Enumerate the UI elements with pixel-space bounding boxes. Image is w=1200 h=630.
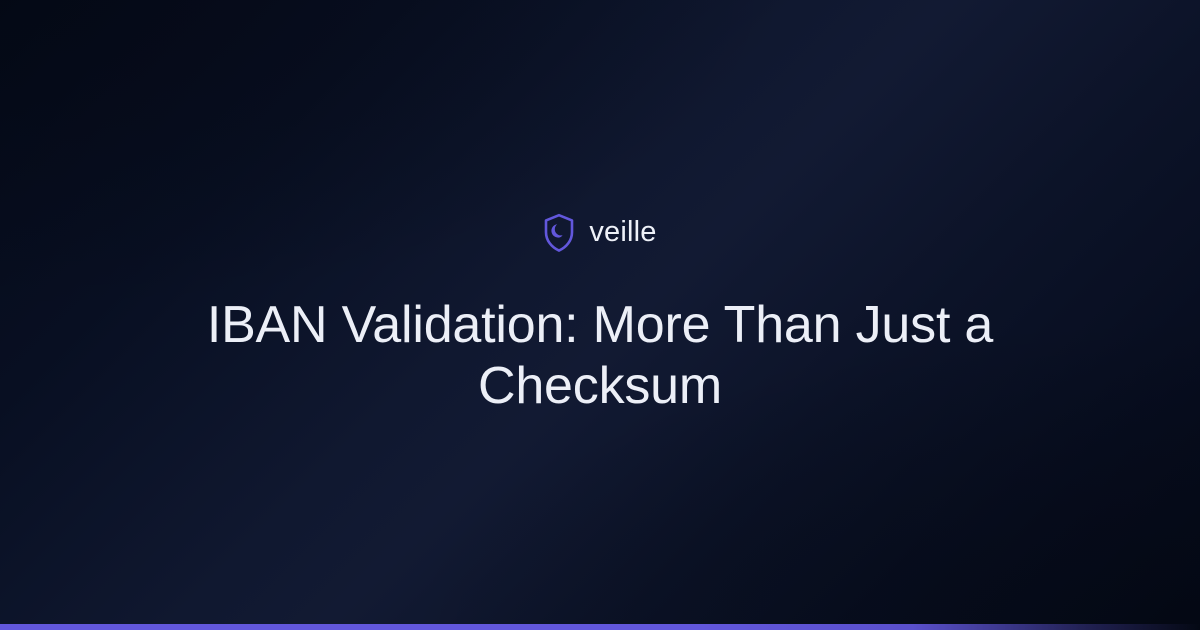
card-content: veille IBAN Validation: More Than Just a… [0,213,1200,418]
page-title: IBAN Validation: More Than Just a Checks… [90,295,1110,418]
og-card: veille IBAN Validation: More Than Just a… [0,0,1200,630]
brand-name: veille [589,218,656,247]
bottom-accent-bar [0,624,1200,630]
brand-lockup: veille [543,213,656,253]
shield-moon-icon [543,213,575,253]
